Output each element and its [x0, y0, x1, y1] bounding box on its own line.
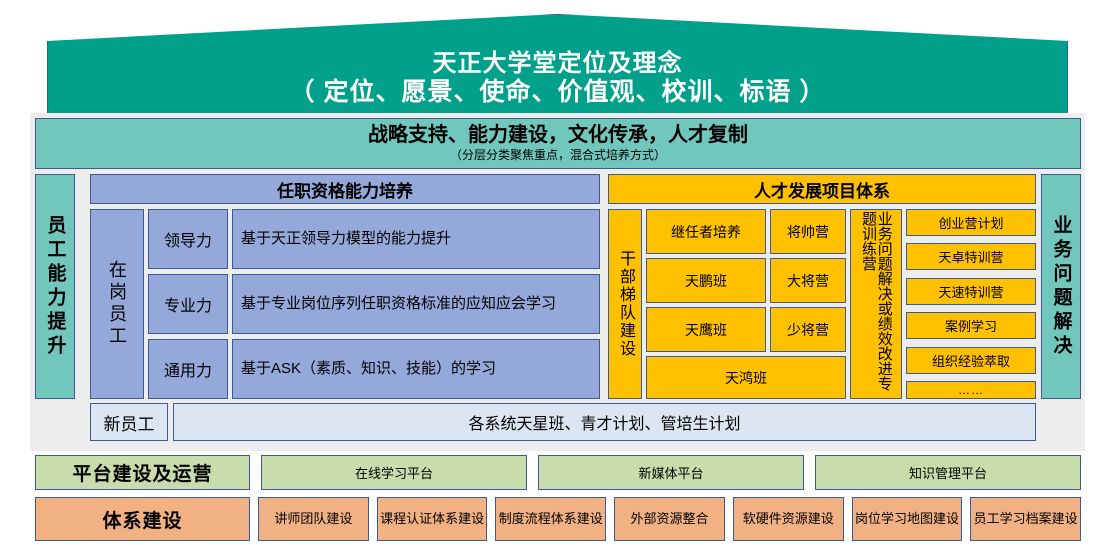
pyramid-framework-diagram: 天正大学堂定位及理念 （ 定位、愿景、使命、价值观、校训、标语 ） 战略支持、能…	[0, 0, 1114, 551]
new-employee-row: 新员工 各系统天星班、青才计划、管培生计划	[90, 403, 1036, 441]
qualification-cluster: 任职资格能力培养 在岗员工 领导力 基于天正领导力模型的能力提升 专业力 基于专…	[90, 174, 600, 399]
new-employee-tag: 新员工	[90, 403, 168, 441]
system-item: 员工学习档案建设	[970, 497, 1081, 541]
platform-header: 平台建设及运营	[35, 455, 250, 490]
qualification-header: 任职资格能力培养	[90, 174, 600, 204]
system-row: 体系建设 讲师团队建设 课程认证体系建设 制度流程体系建设 外部资源整合 软硬件…	[35, 497, 1081, 541]
business-training-label: 业务问题解决或绩效改进专题训练营	[860, 211, 892, 397]
talent-grid-item: 少将营	[770, 307, 846, 352]
cadre-column: 干部梯队建设	[608, 209, 642, 399]
system-item: 制度流程体系建设	[495, 497, 606, 541]
system-item: 岗位学习地图建设	[852, 497, 963, 541]
qualification-desc: 基于ASK（素质、知识、技能）的学习	[232, 339, 600, 399]
platform-row: 平台建设及运营 在线学习平台 新媒体平台 知识管理平台	[35, 455, 1081, 490]
left-side-column: 员工能力提升	[35, 174, 75, 399]
system-header: 体系建设	[35, 497, 250, 541]
talent-grid: 继任者培养 将帅营 天鹏班 大将营 天鹰班 少将营 天鸿班	[646, 209, 846, 399]
business-training-column: 业务问题解决或绩效改进专题训练营	[850, 209, 902, 399]
talent-list-item-more: ……	[906, 381, 1036, 399]
talent-list-item: 组织经验萃取	[906, 347, 1036, 374]
talent-grid-item: 将帅营	[770, 209, 846, 254]
strategy-sub-text: （分层分类聚焦重点，混合式培养方式）	[450, 148, 666, 164]
strategy-band: 战略支持、能力建设，文化传承，人才复制 （分层分类聚焦重点，混合式培养方式）	[35, 118, 1081, 169]
talent-grid-item: 天鸿班	[646, 356, 846, 399]
qualification-desc: 基于天正领导力模型的能力提升	[232, 209, 600, 269]
cadre-label: 干部梯队建设	[617, 250, 633, 358]
system-item: 软硬件资源建设	[733, 497, 844, 541]
system-item: 课程认证体系建设	[377, 497, 488, 541]
new-employee-desc: 各系统天星班、青才计划、管培生计划	[173, 403, 1036, 441]
qualification-tag: 领导力	[148, 209, 228, 269]
talent-list-item: 案例学习	[906, 312, 1036, 339]
qualification-tag: 通用力	[148, 339, 228, 399]
talent-grid-item: 天鹏班	[646, 258, 766, 303]
qualification-rows: 领导力 基于天正领导力模型的能力提升 专业力 基于专业岗位序列任职资格标准的应知…	[148, 209, 600, 399]
talent-grid-item: 继任者培养	[646, 209, 766, 254]
system-item: 外部资源整合	[614, 497, 725, 541]
qualification-row: 领导力 基于天正领导力模型的能力提升	[148, 209, 600, 269]
talent-cluster: 人才发展项目体系 干部梯队建设 继任者培养 将帅营 天鹏班 大将营 天鹰班 少将…	[608, 174, 1036, 399]
talent-list: 创业营计划 天卓特训营 天速特训营 案例学习 组织经验萃取 ……	[906, 209, 1036, 399]
qualification-desc: 基于专业岗位序列任职资格标准的应知应会学习	[232, 274, 600, 334]
strategy-main-text: 战略支持、能力建设，文化传承，人才复制	[368, 124, 748, 146]
platform-item: 在线学习平台	[261, 455, 527, 490]
talent-list-item: 创业营计划	[906, 209, 1036, 236]
platform-item: 新媒体平台	[538, 455, 804, 490]
system-item: 讲师团队建设	[258, 497, 369, 541]
talent-header: 人才发展项目体系	[608, 174, 1036, 204]
qualification-row: 通用力 基于ASK（素质、知识、技能）的学习	[148, 339, 600, 399]
talent-list-item: 天卓特训营	[906, 243, 1036, 270]
right-side-label: 业务问题解决	[1052, 215, 1071, 359]
platform-item: 知识管理平台	[815, 455, 1081, 490]
talent-grid-item: 天鹰班	[646, 307, 766, 352]
qualification-group-label: 在岗员工	[108, 260, 126, 348]
roof-title-line1: 天正大学堂定位及理念	[433, 51, 683, 78]
qualification-group: 在岗员工	[90, 209, 144, 399]
roof-title-line2: （ 定位、愿景、使命、价值观、校训、标语 ）	[290, 78, 826, 107]
right-side-column: 业务问题解决	[1041, 174, 1081, 399]
talent-list-item: 天速特训营	[906, 278, 1036, 305]
middle-section: 员工能力提升 业务问题解决 任职资格能力培养 在岗员工 领导力 基于天正领导力模…	[35, 174, 1081, 446]
qualification-tag: 专业力	[148, 274, 228, 334]
roof-banner: 天正大学堂定位及理念 （ 定位、愿景、使命、价值观、校训、标语 ）	[47, 14, 1068, 114]
talent-grid-item: 大将营	[770, 258, 846, 303]
left-side-label: 员工能力提升	[46, 215, 65, 359]
qualification-row: 专业力 基于专业岗位序列任职资格标准的应知应会学习	[148, 274, 600, 334]
